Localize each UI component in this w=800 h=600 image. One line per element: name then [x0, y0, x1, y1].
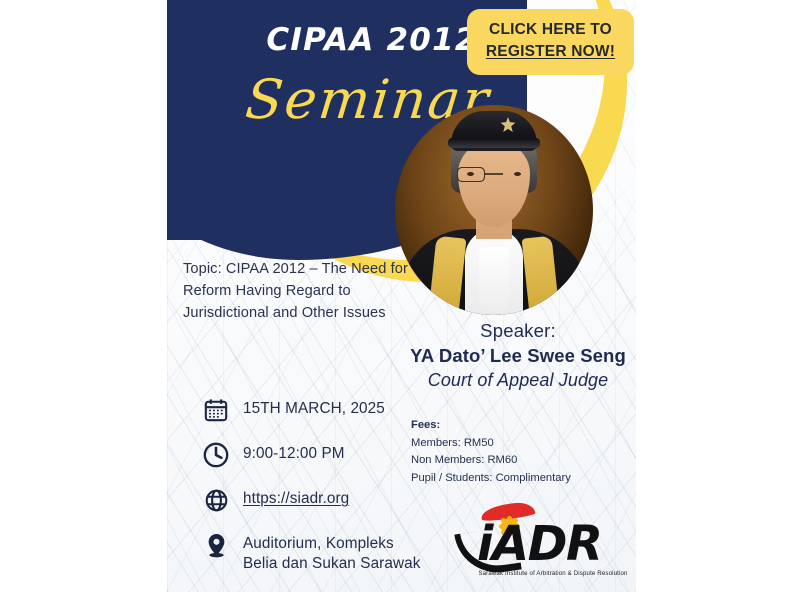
fees-line-students: Pupil / Students: Complimentary — [411, 470, 626, 488]
detail-row-time: 9:00-12:00 PM — [201, 440, 421, 470]
event-poster: CIPAA 2012 Seminar CLICK HERE TO REGISTE… — [167, 0, 636, 592]
portrait-glasses — [457, 167, 531, 182]
speaker-portrait — [395, 105, 593, 315]
calendar-icon — [201, 395, 231, 425]
speaker-label: Speaker: — [403, 320, 633, 342]
logo-tagline: Sarawak Institute of Arbitration & Dispu… — [473, 570, 633, 577]
event-date: 15TH MARCH, 2025 — [243, 395, 385, 419]
detail-row-date: 15TH MARCH, 2025 — [201, 395, 421, 425]
fees-line-non-members: Non Members: RM60 — [411, 452, 626, 470]
fees-block: Fees: Members: RM50 Non Members: RM60 Pu… — [411, 417, 626, 488]
portrait-hat-band — [448, 138, 540, 148]
speaker-name: YA Dato’ Lee Swee Seng — [403, 345, 633, 367]
fees-title: Fees: — [411, 417, 626, 435]
globe-icon — [201, 485, 231, 515]
fees-line-members: Members: RM50 — [411, 435, 626, 453]
logo-wordmark: iADR — [477, 516, 601, 572]
portrait-face — [458, 141, 530, 227]
seminar-topic: Topic: CIPAA 2012 – The Need for Reform … — [183, 258, 421, 325]
detail-row-venue: Auditorium, Kompleks Belia dan Sukan Sar… — [201, 530, 421, 575]
event-website-link[interactable]: https://siadr.org — [243, 485, 349, 509]
siadr-logo: iADR Sarawak Institute of Arbitration & … — [457, 502, 633, 586]
register-button-line1: CLICK HERE TO — [475, 19, 626, 41]
clock-icon — [201, 440, 231, 470]
event-venue: Auditorium, Kompleks Belia dan Sukan Sar… — [243, 530, 421, 575]
register-now-button[interactable]: CLICK HERE TO REGISTER NOW! — [467, 9, 634, 75]
event-time: 9:00-12:00 PM — [243, 440, 345, 464]
speaker-role: Court of Appeal Judge — [403, 370, 633, 391]
location-pin-icon — [201, 530, 231, 560]
speaker-block: Speaker: YA Dato’ Lee Swee Seng Court of… — [403, 320, 633, 391]
portrait-jabot — [479, 247, 509, 311]
register-button-line2: REGISTER NOW! — [475, 41, 626, 63]
event-details-list: 15TH MARCH, 2025 9:00-12:00 PM — [201, 395, 421, 590]
detail-row-website[interactable]: https://siadr.org — [201, 485, 421, 515]
screenshot-canvas: CIPAA 2012 Seminar CLICK HERE TO REGISTE… — [0, 0, 800, 600]
